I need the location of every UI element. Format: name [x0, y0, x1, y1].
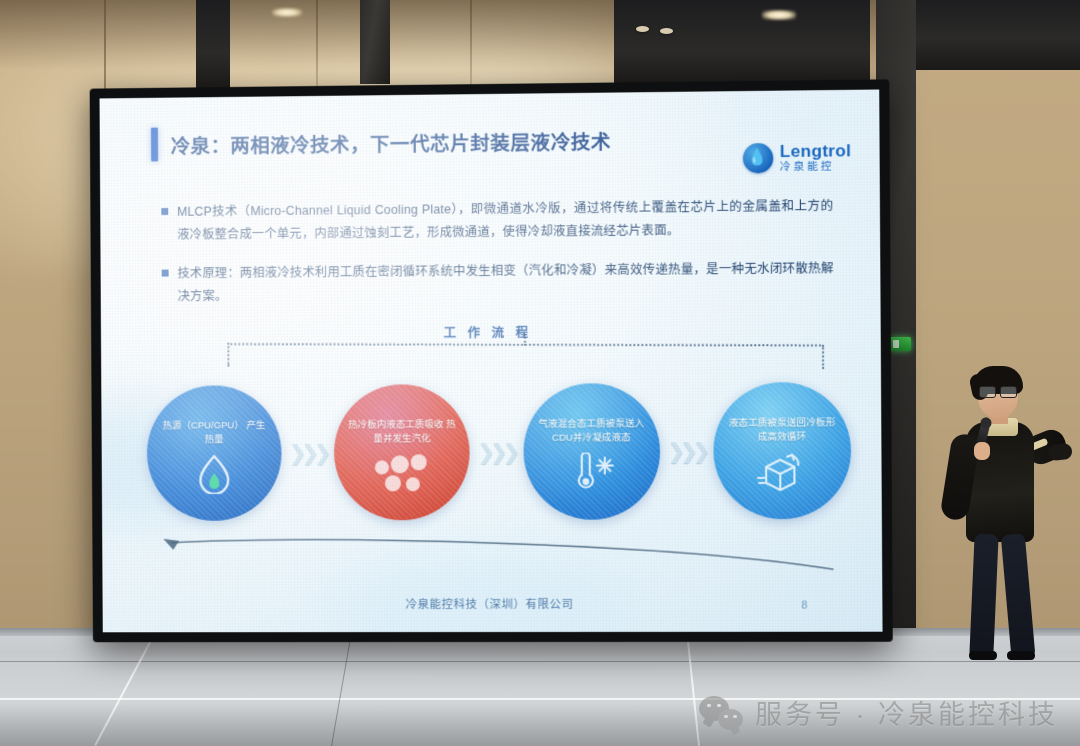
workflow-diagram: 热源（CPU/GPU） 产生热量 ❯❯❯ 热冷板内液态工质吸收 热量并发生汽化 — [147, 370, 852, 533]
watermark-text: 服务号 · 冷泉能控科技 — [755, 693, 1058, 732]
box-recycle-icon — [756, 451, 809, 496]
wechat-watermark: 服务号 · 冷泉能控科技 — [699, 693, 1058, 732]
workflow-bracket-tick — [524, 334, 526, 346]
wechat-bubble-small — [718, 709, 743, 730]
workflow-bracket — [227, 343, 824, 368]
smoke-detector-icon — [660, 28, 673, 34]
wechat-icon — [699, 696, 743, 730]
ceiling-light — [762, 10, 796, 20]
exit-sign — [890, 337, 911, 351]
presenter-leg-left — [969, 534, 998, 657]
presentation-photo: 冷泉：两相液冷技术，下一代芯片封装层液冷技术 💧 Lengtrol 冷泉能控 M… — [0, 0, 1080, 746]
presenter-right-forearm — [1047, 443, 1073, 461]
bullet-item: 技术原理：两相液冷技术利用工质在密闭循环系统中发生相变（汽化和冷凝）来高效传递热… — [162, 257, 834, 308]
presenter — [938, 366, 1070, 666]
bullet-list: MLCP技术（Micro-Channel Liquid Cooling Plat… — [161, 195, 834, 324]
ceiling-light — [272, 8, 302, 17]
presenter-shoe-right — [1007, 651, 1035, 660]
presenter-hand — [974, 442, 990, 460]
workflow-step-2: 热冷板内液态工质吸收 热量并发生汽化 — [334, 384, 470, 520]
company-logo: 💧 Lengtrol 冷泉能控 — [742, 142, 851, 173]
workflow-step-2-label: 热冷板内液态工质吸收 热量并发生汽化 — [334, 418, 470, 447]
wall-panel-seam — [470, 0, 472, 86]
bullet-text: MLCP技术（Micro-Channel Liquid Cooling Plat… — [177, 195, 833, 247]
wechat-dot — [707, 704, 711, 708]
wechat-dot — [717, 704, 721, 708]
workflow-step-4: 液态工质被泵送回冷板形 成高效循环 — [713, 382, 851, 519]
curved-return-arrow — [153, 529, 839, 577]
slide-footer: 冷泉能控科技（深圳）有限公司 — [103, 595, 883, 612]
title-accent-bar — [151, 128, 158, 162]
presenter-legs — [972, 534, 1030, 656]
workflow-step-1-label: 热源（CPU/GPU） 产生热量 — [147, 419, 282, 448]
slide-content: 冷泉：两相液冷技术，下一代芯片封装层液冷技术 💧 Lengtrol 冷泉能控 M… — [100, 90, 883, 633]
bullet-square-icon — [161, 208, 168, 215]
logo-name-cn: 冷泉能控 — [780, 161, 851, 173]
dark-beam — [614, 0, 870, 92]
logo-name-en: Lengtrol — [780, 142, 851, 161]
page-number: 8 — [801, 600, 807, 612]
workflow-step-3: 气液混合态工质被泵送入 CDU并冷凝成液态 — [523, 383, 660, 520]
flow-chevron-icon: ❯❯❯ — [289, 440, 327, 465]
dark-column — [196, 0, 230, 96]
floor-seam — [0, 661, 1080, 662]
slide-title-row: 冷泉：两相液冷技术，下一代芯片封装层液冷技术 — [151, 123, 611, 162]
dark-column — [360, 0, 390, 84]
workflow-step-3-label: 气液混合态工质被泵送入 CDU并冷凝成液态 — [523, 417, 660, 446]
bullet-square-icon — [162, 269, 169, 276]
workflow-step-4-label: 液态工质被泵送回冷板形 成高效循环 — [713, 416, 851, 446]
logo-text: Lengtrol 冷泉能控 — [780, 142, 851, 173]
workflow-label: 工 作 流 程 — [101, 319, 881, 343]
bubbles-icon — [371, 453, 433, 498]
wechat-dot — [733, 715, 737, 719]
wechat-dot — [724, 715, 728, 719]
thermometer-snowflake-icon — [567, 452, 615, 497]
projection-screen: 冷泉：两相液冷技术，下一代芯片封装层液冷技术 💧 Lengtrol 冷泉能控 M… — [90, 79, 893, 642]
presenter-shoe-left — [969, 651, 997, 660]
flow-chevron-icon: ❯❯❯ — [667, 439, 705, 464]
wall-panel-seam — [316, 0, 318, 92]
glasses-icon — [979, 386, 1017, 396]
flow-chevron-icon: ❯❯❯ — [478, 439, 516, 464]
bullet-text: 技术原理：两相液冷技术利用工质在密闭循环系统中发生相变（汽化和冷凝）来高效传递热… — [177, 257, 833, 308]
bullet-item: MLCP技术（Micro-Channel Liquid Cooling Plat… — [161, 195, 833, 247]
water-drop-icon: 💧 — [742, 143, 772, 173]
flame-icon — [197, 454, 231, 499]
workflow-step-1: 热源（CPU/GPU） 产生热量 — [147, 385, 282, 521]
presenter-leg-right — [1001, 533, 1036, 657]
page-title: 冷泉：两相液冷技术，下一代芯片封装层液冷技术 — [171, 125, 611, 159]
dark-beam — [916, 0, 1080, 70]
smoke-detector-icon — [636, 26, 649, 32]
